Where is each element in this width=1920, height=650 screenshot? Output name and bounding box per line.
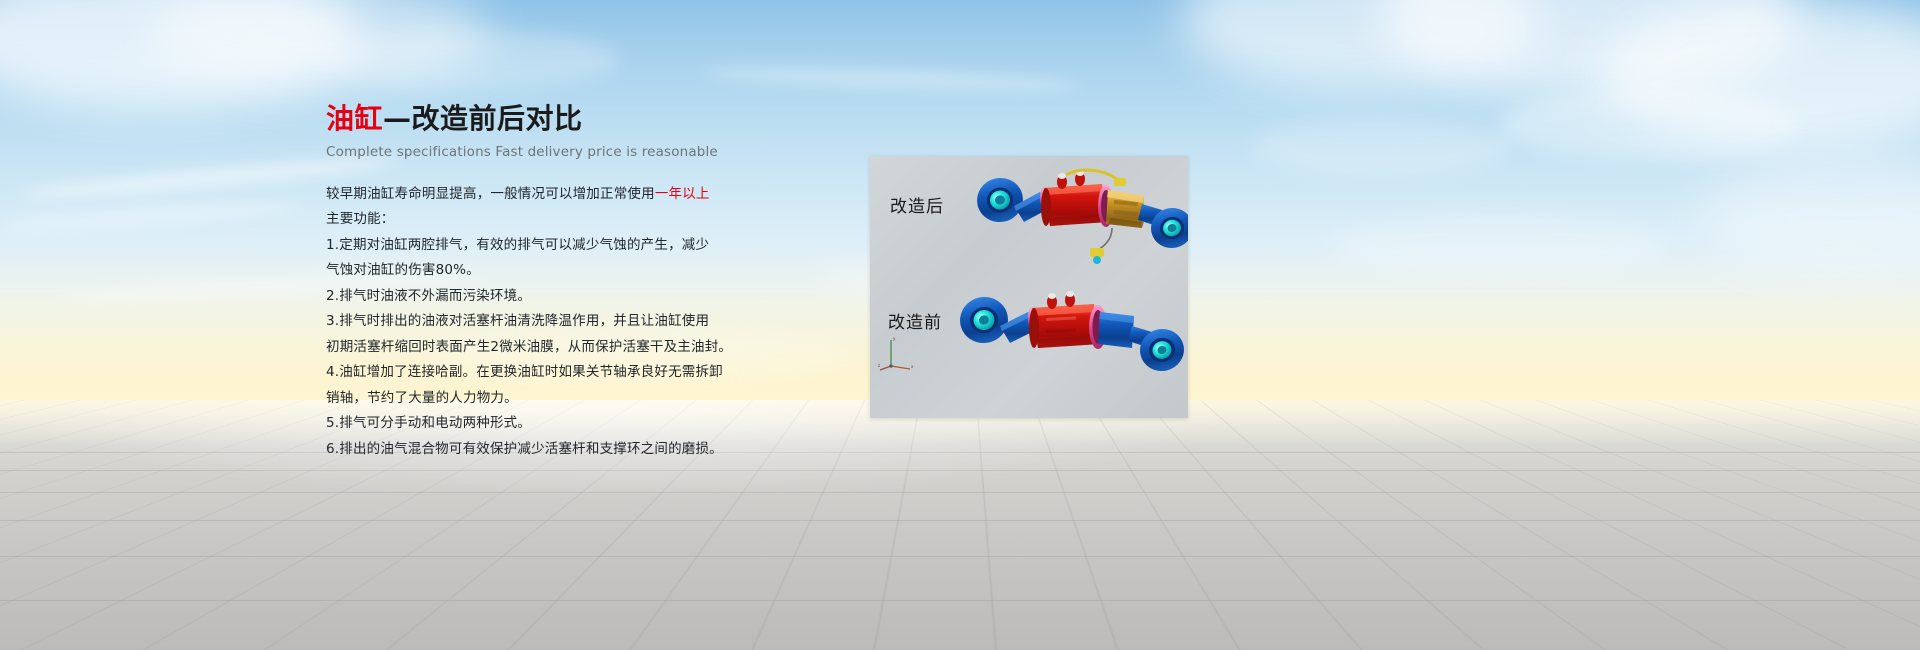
feature-line: 主要功能： bbox=[326, 207, 886, 233]
feature-line-text: 气蚀对油缸的伤害80%。 bbox=[326, 262, 480, 278]
feature-line: 4.油缸增加了连接哈副。在更换油缸时如果关节轴承良好无需拆卸 bbox=[326, 360, 886, 386]
label-before-modification: 改造前 bbox=[888, 308, 942, 333]
label-after-modification: 改造后 bbox=[890, 192, 944, 217]
page-title-highlight: 油缸 bbox=[326, 102, 383, 135]
page-title: 油缸—改造前后对比 bbox=[326, 104, 886, 135]
feature-line: 初期活塞杆缩回时表面产生2微米油膜，从而保护活塞干及主油封。 bbox=[326, 335, 886, 361]
feature-line: 较早期油缸寿命明显提高，一般情况可以增加正常使用一年以上 bbox=[326, 182, 886, 208]
feature-line-text: 4.油缸增加了连接哈副。在更换油缸时如果关节轴承良好无需拆卸 bbox=[326, 364, 723, 380]
page-subtitle: Complete specifications Fast delivery pr… bbox=[326, 144, 886, 160]
feature-line: 3.排气时排出的油液对活塞杆油清洗降温作用，并且让油缸使用 bbox=[326, 309, 886, 335]
product-comparison-panel: 改造后 改造前 y x z bbox=[870, 156, 1188, 418]
page-title-rest: —改造前后对比 bbox=[383, 102, 583, 135]
feature-line-text: 初期活塞杆缩回时表面产生2微米油膜，从而保护活塞干及主油封。 bbox=[326, 339, 732, 355]
feature-line-text: 6.排出的油气混合物可有效保护减少活塞杆和支撑环之间的磨损。 bbox=[326, 441, 723, 457]
ground-plaza bbox=[0, 400, 1920, 650]
feature-line-text: 2.排气时油液不外漏而污染环境。 bbox=[326, 288, 531, 304]
feature-line: 6.排出的油气混合物可有效保护减少活塞杆和支撑环之间的磨损。 bbox=[326, 437, 886, 463]
svg-text:y: y bbox=[893, 336, 896, 341]
feature-line-text: 3.排气时排出的油液对活塞杆油清洗降温作用，并且让油缸使用 bbox=[326, 313, 709, 329]
feature-list: 较早期油缸寿命明显提高，一般情况可以增加正常使用一年以上主要功能：1.定期对油缸… bbox=[326, 182, 886, 463]
feature-line-text: 销轴，节约了大量的人力物力。 bbox=[326, 390, 518, 406]
cylinder-before-modification bbox=[948, 284, 1188, 404]
feature-line-text: 5.排气可分手动和电动两种形式。 bbox=[326, 415, 531, 431]
feature-line: 气蚀对油缸的伤害80%。 bbox=[326, 258, 886, 284]
feature-line: 5.排气可分手动和电动两种形式。 bbox=[326, 411, 886, 437]
svg-text:x: x bbox=[911, 364, 914, 369]
hero-banner: 油缸—改造前后对比 Complete specifications Fast d… bbox=[0, 0, 1920, 650]
svg-text:z: z bbox=[878, 363, 880, 368]
feature-line-highlight: 一年以上 bbox=[655, 186, 710, 202]
cylinder-after-modification bbox=[962, 166, 1188, 282]
feature-line-text: 主要功能： bbox=[326, 211, 395, 227]
feature-line: 销轴，节约了大量的人力物力。 bbox=[326, 386, 886, 412]
feature-line-text: 1.定期对油缸两腔排气，有效的排气可以减少气蚀的产生，减少 bbox=[326, 237, 709, 253]
feature-line: 1.定期对油缸两腔排气，有效的排气可以减少气蚀的产生，减少 bbox=[326, 233, 886, 259]
feature-line-text: 较早期油缸寿命明显提高，一般情况可以增加正常使用 bbox=[326, 186, 655, 202]
feature-line: 2.排气时油液不外漏而污染环境。 bbox=[326, 284, 886, 310]
ground-reflection bbox=[0, 400, 1920, 650]
hero-text-block: 油缸—改造前后对比 Complete specifications Fast d… bbox=[326, 104, 886, 462]
axis-gizmo-icon: y x z bbox=[878, 334, 918, 372]
